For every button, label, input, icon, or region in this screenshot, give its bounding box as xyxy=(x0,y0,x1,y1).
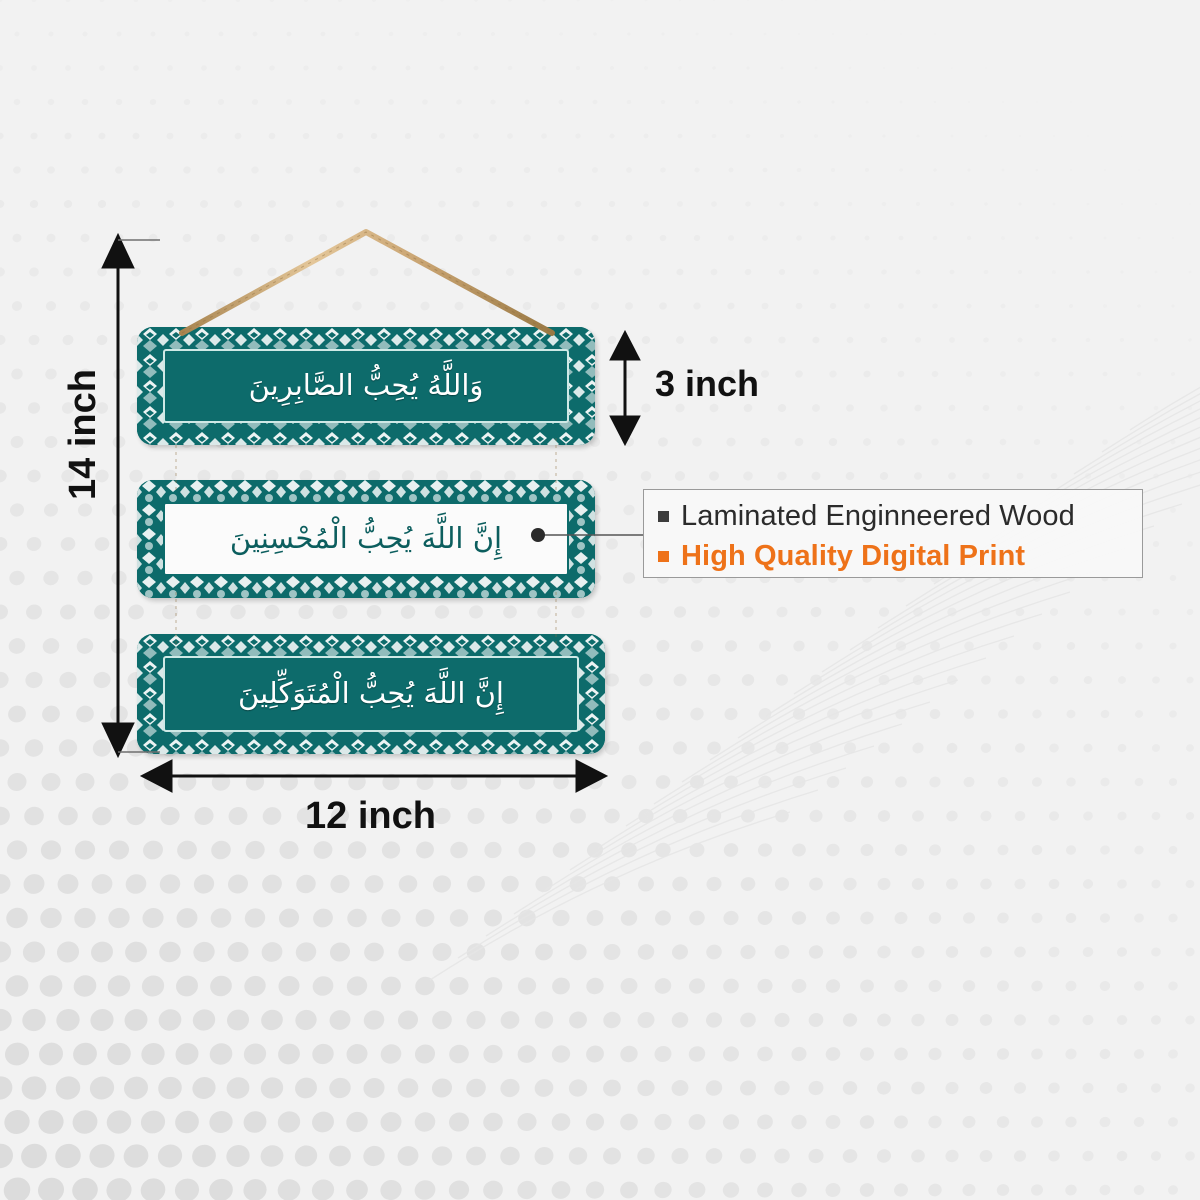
arrow-up-icon xyxy=(610,331,640,360)
callout-item-print: High Quality Digital Print xyxy=(658,536,1142,576)
callout-item-material: Laminated Enginneered Wood xyxy=(658,496,1142,536)
callout-print-label: High Quality Digital Print xyxy=(681,540,1025,573)
arrow-down-icon xyxy=(610,416,640,445)
dimension-height-arrow xyxy=(102,234,134,757)
product-features-callout: Laminated Enginneered Wood High Quality … xyxy=(643,489,1143,578)
arrow-right-icon xyxy=(576,760,607,792)
arrow-left-icon xyxy=(141,760,172,792)
dimension-lines-layer xyxy=(0,0,1200,1200)
bullet-square-icon xyxy=(658,551,669,562)
dimension-width-arrow xyxy=(141,760,607,792)
bullet-square-icon xyxy=(658,511,669,522)
arrow-up-icon xyxy=(102,234,134,268)
dimension-height-ticks xyxy=(118,240,160,752)
dimension-panel-height-arrow xyxy=(610,331,640,445)
callout-material-label: Laminated Enginneered Wood xyxy=(681,500,1075,533)
